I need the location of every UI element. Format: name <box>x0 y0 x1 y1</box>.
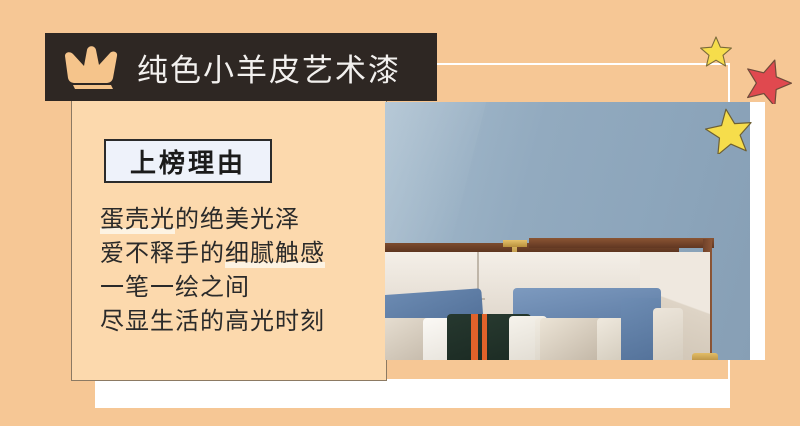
reason-badge-label: 上榜理由 <box>130 143 246 180</box>
pillow-strap-1 <box>471 314 478 360</box>
white-offset-band <box>95 380 730 408</box>
page-title: 纯色小羊皮艺术漆 <box>137 45 401 90</box>
pillow-cream-right <box>653 308 683 360</box>
poster-canvas: 纯色小羊皮艺术漆 上榜理由 蛋壳光的绝美光泽 爱不释手的细腻触感 一笔一绘之间 … <box>0 0 800 426</box>
gold-bracket-icon <box>503 240 527 247</box>
copy-block: 蛋壳光的绝美光泽 爱不释手的细腻触感 一笔一绘之间 尽显生活的高光时刻 <box>100 203 375 339</box>
crown-icon <box>61 44 123 90</box>
copy-line-2: 爱不释手的细腻触感 <box>100 237 375 271</box>
copy-line-1: 蛋壳光的绝美光泽 <box>100 203 375 237</box>
star-big-yellow-icon <box>705 108 753 159</box>
pillow-strap-2 <box>482 314 487 360</box>
copy-line-1-rest: 的绝美光泽 <box>175 206 300 233</box>
title-bar: 纯色小羊皮艺术漆 <box>45 33 437 101</box>
copy-line-3-lead: 一笔一绘之间 <box>100 274 250 301</box>
bedroom-photo <box>385 102 750 360</box>
copy-line-1-highlight: 蛋壳光 <box>100 206 175 234</box>
copy-line-4: 尽显生活的高光时刻 <box>100 305 375 339</box>
copy-line-4-lead: 尽显生活的高光时刻 <box>100 308 325 335</box>
copy-line-2-lead: 爱不释手的 <box>100 240 225 267</box>
copy-line-2-highlight: 细腻触感 <box>225 240 325 268</box>
headboard-wood-rail-upper <box>529 238 714 248</box>
gold-knob <box>692 353 718 360</box>
reason-badge: 上榜理由 <box>104 139 272 183</box>
star-small-yellow-icon <box>700 36 732 72</box>
copy-line-3: 一笔一绘之间 <box>100 271 375 305</box>
star-red-icon <box>744 58 792 109</box>
